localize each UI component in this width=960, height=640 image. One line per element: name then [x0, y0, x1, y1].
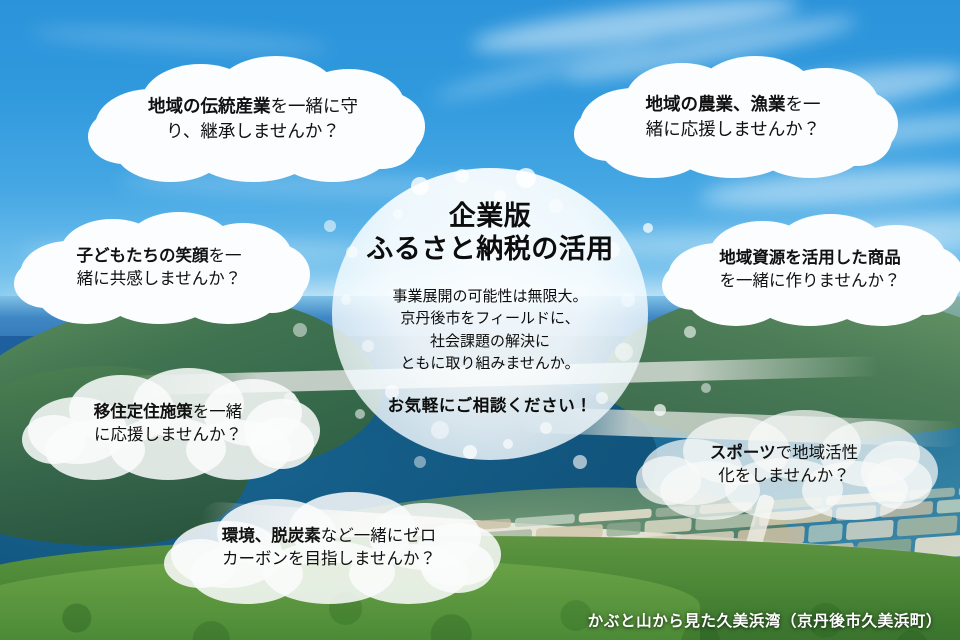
bubble-traditional-industry: 地域の伝統産業を一緒に守り、継承しませんか？ [88, 56, 418, 182]
bubble-text-normal: カーボンを目指しませんか？ [222, 550, 436, 568]
bubble-text: 地域資源を活用した商品を一緒に作りませんか？ [662, 214, 958, 326]
bubble-text-line: 化をしませんか？ [718, 465, 850, 488]
bubble-text-line: 移住定住施策を一緒 [94, 401, 243, 424]
bubble-text: 環境、脱炭素など一緒にゼロカーボンを目指しませんか？ [164, 492, 494, 604]
bubble-text: 地域の伝統産業を一緒に守り、継承しませんか？ [88, 56, 418, 182]
poster-cta-text: お気軽にご相談ください！ [388, 392, 593, 416]
cirrus-cloud-icon [469, 0, 801, 62]
bubble-text-normal: り、継承しませんか？ [166, 121, 340, 141]
bubble-text-line: り、継承しませんか？ [166, 119, 340, 144]
decorative-bubble-dot [701, 383, 711, 393]
decorative-bubble-dot [684, 326, 696, 338]
bubble-text-normal: を一緒に作りませんか？ [719, 272, 900, 290]
bubble-migration-settlement: 移住定住施策を一緒に応援しませんか？ [22, 368, 314, 480]
bubble-text-emphasis: 地域の農業、漁業 [646, 94, 786, 114]
bubble-agriculture-fishery: 地域の農業、漁業を一緒に応援しませんか？ [574, 56, 892, 178]
decorative-bubble-dot [293, 323, 307, 337]
bubble-text-line: 子どもたちの笑顔を一 [77, 245, 242, 268]
bubble-text-line: 地域資源を活用した商品 [719, 247, 901, 270]
bubble-text-line: を一緒に作りませんか？ [719, 270, 900, 293]
bubble-text-emphasis: 地域資源を活用した商品 [719, 249, 901, 267]
paddy-field [808, 523, 843, 542]
bubble-text-normal: に応援しませんか？ [94, 426, 242, 444]
center-message: 企業版 ふるさと納税の活用 事業展開の可能性は無限大。 京丹後市をフィールドに、… [332, 168, 648, 460]
bubble-text: スポーツで地域活性化をしませんか？ [636, 410, 932, 520]
bubble-sports-revitalization: スポーツで地域活性化をしませんか？ [636, 410, 932, 520]
bubble-text: 地域の農業、漁業を一緒に応援しませんか？ [574, 56, 892, 178]
bubble-text-emphasis: 移住定住施策 [94, 403, 193, 421]
photo-caption: かぶと山から見た久美浜湾（京丹後市久美浜町） [588, 609, 942, 631]
bubble-children-smiles: 子どもたちの笑顔を一緒に共感しませんか？ [14, 212, 304, 324]
bubble-text-normal: を一 [209, 247, 242, 265]
bubble-text-line: 環境、脱炭素など一緒にゼロ [222, 525, 437, 548]
cirrus-cloud-icon [30, 22, 331, 58]
paddy-field [606, 521, 641, 536]
bubble-text-normal: を一 [786, 94, 821, 114]
bubble-environment-zero-carbon: 環境、脱炭素など一緒にゼロカーボンを目指しませんか？ [164, 492, 494, 604]
bubble-text-normal: 緒に応援しませんか？ [646, 119, 820, 139]
bubble-text-normal: を一緒に守 [271, 96, 359, 116]
bubble-text-normal: で地域活性 [776, 444, 859, 462]
bubble-text-line: 地域の農業、漁業を一 [646, 92, 821, 117]
bubble-text-emphasis: 地域の伝統産業 [148, 96, 271, 116]
bubble-text-normal: を一緒 [193, 403, 243, 421]
poster-canvas: 企業版 ふるさと納税の活用 事業展開の可能性は無限大。 京丹後市をフィールドに、… [0, 0, 960, 640]
bubble-text-normal: 化をしませんか？ [718, 467, 850, 485]
bubble-text-emphasis: スポーツ [710, 444, 776, 462]
bubble-text-line: スポーツで地域活性 [710, 442, 858, 465]
paddy-field [846, 520, 894, 540]
bubble-text-line: 緒に共感しませんか？ [77, 268, 242, 291]
paddy-field [937, 496, 960, 514]
bubble-text-line: カーボンを目指しませんか？ [222, 548, 436, 571]
bubble-text-emphasis: 子どもたちの笑顔 [77, 247, 209, 265]
bubble-text-emphasis: 環境、脱炭素 [222, 527, 321, 545]
bubble-text: 子どもたちの笑顔を一緒に共感しませんか？ [14, 212, 304, 324]
bubble-text: 移住定住施策を一緒に応援しませんか？ [22, 368, 314, 480]
poster-body-text: 事業展開の可能性は無限大。 京丹後市をフィールドに、 社会課題の解決に ともに取… [392, 286, 587, 376]
bubble-text-line: 地域の伝統産業を一緒に守 [148, 94, 358, 119]
bubble-text-line: に応援しませんか？ [94, 424, 242, 447]
bubble-local-resources-products: 地域資源を活用した商品を一緒に作りませんか？ [662, 214, 958, 326]
paddy-field [644, 518, 692, 534]
bubble-text-normal: 緒に共感しませんか？ [77, 270, 242, 288]
poster-title: 企業版 ふるさと納税の活用 [366, 200, 614, 267]
bubble-text-line: 緒に応援しませんか？ [646, 117, 820, 142]
bubble-text-normal: など一緒にゼロ [321, 527, 437, 545]
